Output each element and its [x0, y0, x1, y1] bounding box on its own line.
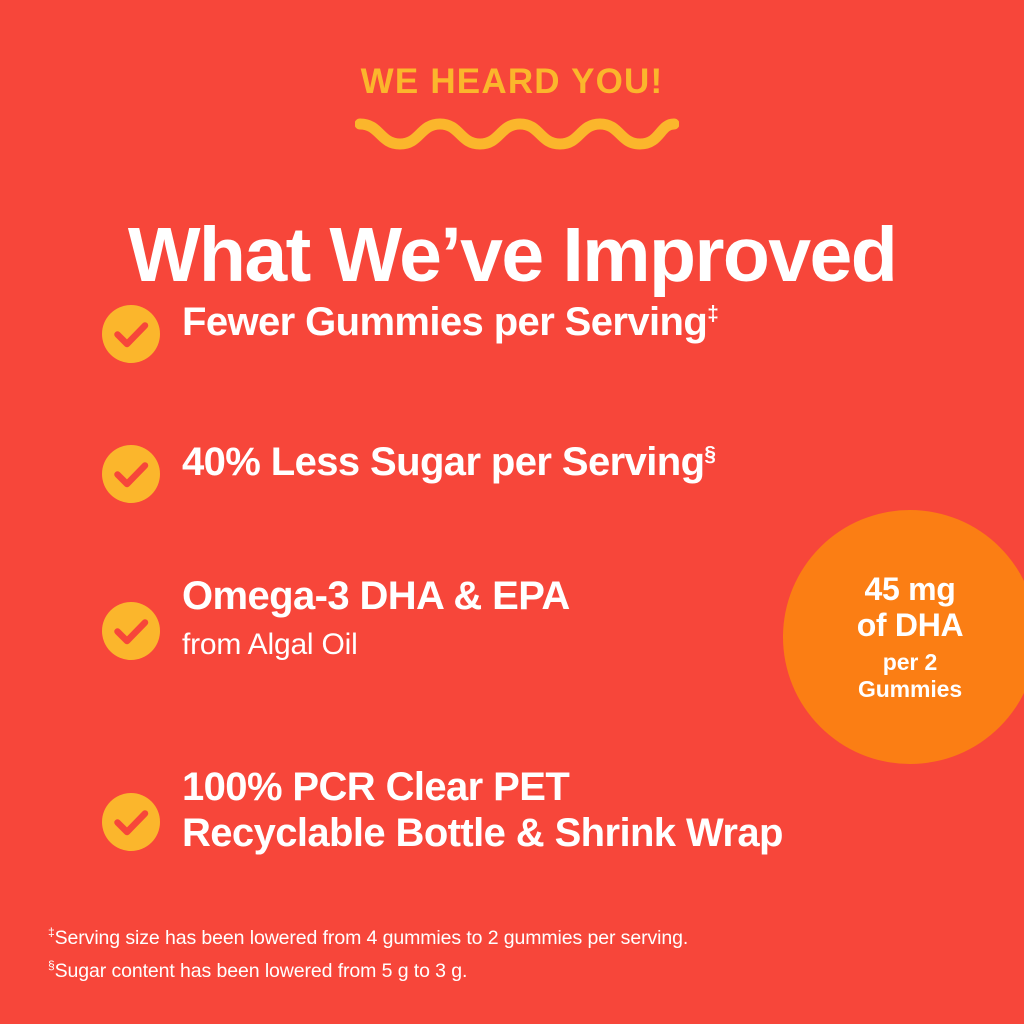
list-item-title-text: 40% Less Sugar per Serving: [182, 440, 704, 484]
list-item-text: 100% PCR Clear PET Recyclable Bottle & S…: [182, 765, 783, 856]
list-item-title: 40% Less Sugar per Serving§: [182, 440, 715, 486]
badge-amount: 45 mg: [865, 571, 956, 607]
list-item-text: Omega-3 DHA & EPA from Algal Oil: [182, 574, 570, 663]
footnote-marker: ‡: [707, 303, 718, 326]
footnote-1-text: Serving size has been lowered from 4 gum…: [55, 927, 689, 949]
footnote-marker: §: [704, 443, 715, 466]
footnote-1: ‡Serving size has been lowered from 4 gu…: [48, 922, 688, 955]
badge-nutrient: of DHA: [857, 607, 964, 643]
list-item: Fewer Gummies per Serving‡: [102, 300, 718, 363]
list-item-title-line1: 100% PCR Clear PET: [182, 765, 783, 811]
check-circle-icon: [102, 793, 160, 851]
list-item-title-text: Fewer Gummies per Serving: [182, 300, 707, 344]
list-item: 40% Less Sugar per Serving§: [102, 440, 715, 503]
kicker-text: WE HEARD YOU!: [0, 64, 1024, 99]
squiggle-divider-icon: [355, 110, 679, 156]
check-circle-icon: [102, 445, 160, 503]
footnote-2-text: Sugar content has been lowered from 5 g …: [55, 960, 468, 982]
list-item-title: Omega-3 DHA & EPA: [182, 574, 570, 620]
list-item: Omega-3 DHA & EPA from Algal Oil: [102, 574, 570, 663]
list-item-title: Fewer Gummies per Serving‡: [182, 300, 718, 346]
promo-poster: WE HEARD YOU! What We’ve Improved 45 mg …: [0, 0, 1024, 1024]
footnote-2-marker: §: [48, 958, 55, 972]
list-item-text: 40% Less Sugar per Serving§: [182, 440, 715, 486]
check-circle-icon: [102, 305, 160, 363]
footnotes: ‡Serving size has been lowered from 4 gu…: [48, 922, 688, 988]
list-item-title-line2: Recyclable Bottle & Shrink Wrap: [182, 811, 783, 857]
list-item: 100% PCR Clear PET Recyclable Bottle & S…: [102, 765, 783, 856]
check-circle-icon: [102, 602, 160, 660]
list-item-subtitle: from Algal Oil: [182, 626, 570, 664]
footnote-2: §Sugar content has been lowered from 5 g…: [48, 955, 688, 988]
footnote-1-marker: ‡: [48, 926, 55, 940]
badge-serving-line2: Gummies: [858, 676, 962, 703]
list-item-text: Fewer Gummies per Serving‡: [182, 300, 718, 346]
page-title: What We’ve Improved: [0, 215, 1024, 296]
dha-badge: 45 mg of DHA per 2 Gummies: [783, 510, 1024, 764]
badge-serving-line1: per 2: [883, 649, 937, 676]
